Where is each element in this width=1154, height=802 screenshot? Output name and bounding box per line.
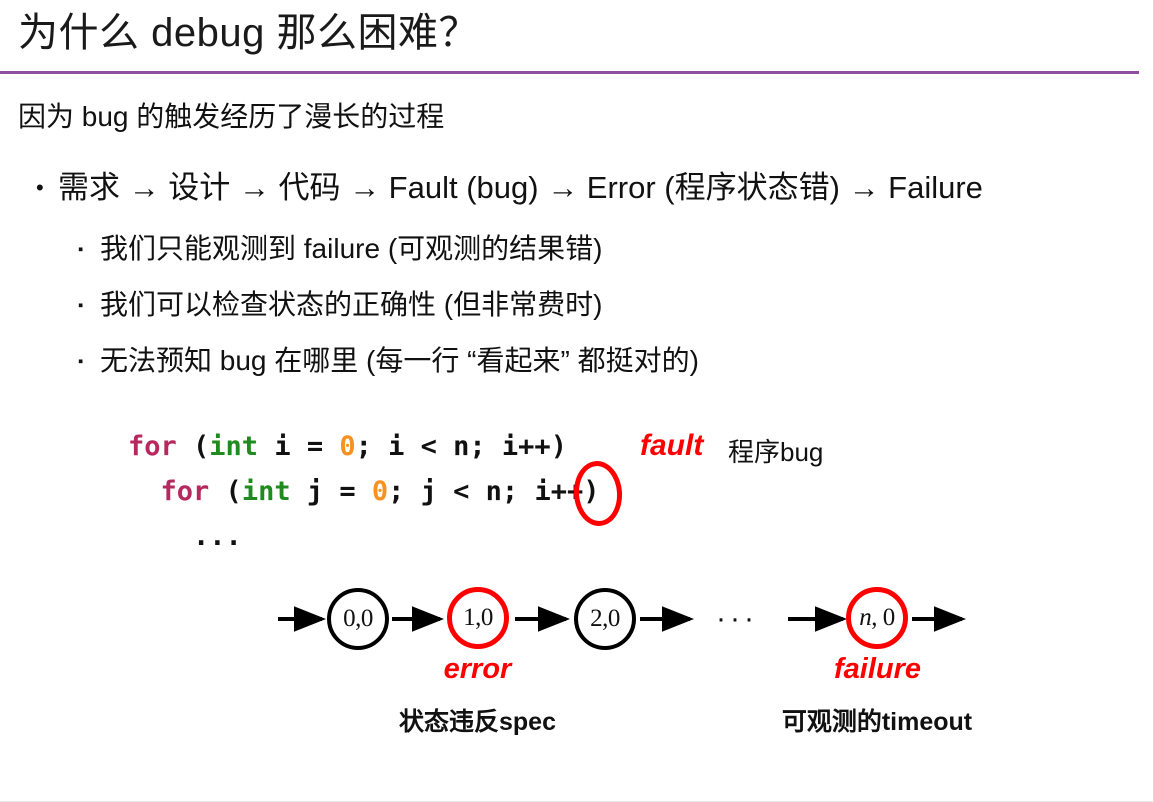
state-node-2-0: 2,0 (574, 588, 636, 650)
fault-annotation: fault (640, 429, 703, 463)
state-node-0-0: 0,0 (327, 588, 389, 650)
state-node-1-0: 1,0 (447, 587, 509, 649)
sub-bullet-2: ▪我们可以检查状态的正确性 (但非常费时) (78, 285, 602, 326)
square-bullet-icon: ▪ (78, 342, 100, 382)
state-node-1-0-label: 1,0 (463, 604, 493, 632)
diagram-ellipsis: ··· (716, 602, 758, 636)
state-node-n-0: n, 0 (846, 587, 908, 649)
sub-bullet-3: ▪无法预知 bug 在哪里 (每一行 “看起来” 都挺对的) (78, 341, 699, 382)
code-text-2a: ( (209, 476, 242, 507)
code-text-2c: ; j < n; i++) (388, 476, 599, 507)
page-title: 为什么 debug 那么困难？ (18, 6, 479, 60)
code-text-2b: j = (291, 476, 372, 507)
bullet-dot-icon: • (36, 166, 58, 210)
failure-tag: failure (805, 653, 950, 686)
code-number-1: 0 (339, 431, 355, 462)
sub-bullet-2-text: 我们可以检查状态的正确性 (但非常费时) (100, 289, 602, 320)
state-diagram: 0,0 1,0 2,0 n, 0 ··· error failure 状态违反s… (0, 560, 1154, 740)
square-bullet-icon: ▪ (78, 286, 100, 326)
sub-bullet-3-text: 无法预知 bug 在哪里 (每一行 “看起来” 都挺对的) (100, 345, 699, 376)
code-indent-2 (128, 476, 161, 507)
state-node-0-0-label: 0,0 (343, 605, 373, 633)
caption-failure: 可观测的timeout (768, 702, 986, 738)
code-keyword-for-1: for (128, 431, 177, 462)
code-type-int-1: int (209, 431, 258, 462)
code-keyword-for-2: for (161, 476, 210, 507)
code-ellipsis-line: ... (128, 521, 242, 552)
state-node-n-0-label-var: n (859, 604, 871, 632)
slide-canvas: 为什么 debug 那么困难？ 因为 bug 的触发经历了漫长的过程 •需求 →… (0, 0, 1154, 802)
sub-bullet-1-text: 我们只能观测到 failure (可观测的结果错) (100, 233, 602, 264)
bullet-level1: •需求 → 设计 → 代码 → Fault (bug) → Error (程序状… (36, 166, 983, 210)
error-tag: error (405, 653, 550, 686)
code-number-2: 0 (372, 476, 388, 507)
state-node-2-0-label: 2,0 (590, 605, 620, 633)
code-text-1a: ( (177, 431, 210, 462)
code-text-1c: ; i < n; i++) (356, 431, 567, 462)
code-text-1b: i = (258, 431, 339, 462)
caption-error: 状态违反spec (380, 702, 575, 738)
code-snippet: for (int i = 0; i < n; i++) for (int j =… (128, 424, 599, 559)
title-divider (0, 71, 1139, 74)
sub-bullet-1: ▪我们只能观测到 failure (可观测的结果错) (78, 229, 602, 270)
state-node-n-0-label-rest: , 0 (871, 604, 895, 632)
fault-annotation-note: 程序bug (728, 432, 823, 469)
lead-paragraph: 因为 bug 的触发经历了漫长的过程 (18, 97, 444, 137)
bullet-level1-text: 需求 → 设计 → 代码 → Fault (bug) → Error (程序状态… (58, 170, 983, 205)
code-type-int-2: int (242, 476, 291, 507)
square-bullet-icon: ▪ (78, 230, 100, 270)
